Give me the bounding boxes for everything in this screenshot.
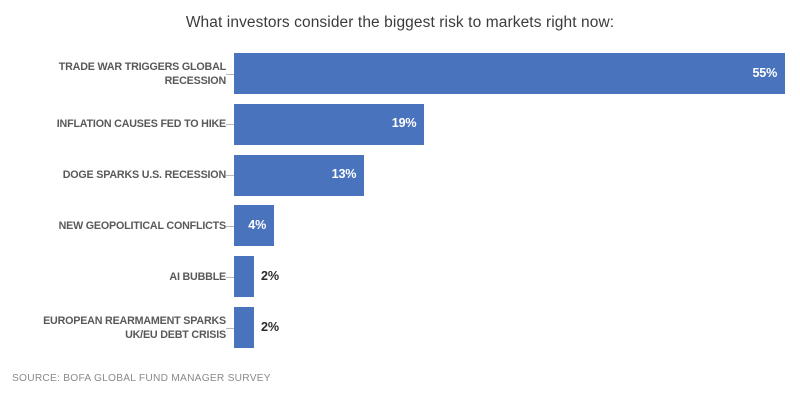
plot-area: TRADE WAR TRIGGERS GLOBAL RECESSION55%IN… [0, 45, 800, 350]
bar-value-label: 13% [320, 167, 356, 181]
bar [234, 53, 785, 94]
bar-value-label: 2% [261, 269, 279, 283]
category-label: AI BUBBLE [24, 261, 226, 293]
bar-value-label: 55% [741, 66, 777, 80]
axis-tick [226, 328, 234, 329]
axis-tick [226, 175, 234, 176]
category-label: TRADE WAR TRIGGERS GLOBAL RECESSION [24, 58, 226, 90]
category-label: INFLATION CAUSES FED TO HIKE [24, 108, 226, 140]
source-note: SOURCE: BOFA GLOBAL FUND MANAGER SURVEY [12, 373, 271, 384]
chart-title: What investors consider the biggest risk… [0, 14, 800, 32]
axis-tick [226, 277, 234, 278]
bar [234, 256, 254, 297]
axis-tick [226, 124, 234, 125]
chart-container: What investors consider the biggest risk… [0, 0, 800, 403]
category-label: EUROPEAN REARMAMENT SPARKS UK/EU DEBT CR… [24, 312, 226, 344]
bar-value-label: 19% [380, 116, 416, 130]
bar-value-label: 2% [261, 320, 279, 334]
bar [234, 307, 254, 348]
axis-tick [226, 74, 234, 75]
category-label: DOGE SPARKS U.S. RECESSION [24, 159, 226, 191]
bar-value-label: 4% [230, 218, 266, 232]
category-label: NEW GEOPOLITICAL CONFLICTS [24, 210, 226, 242]
